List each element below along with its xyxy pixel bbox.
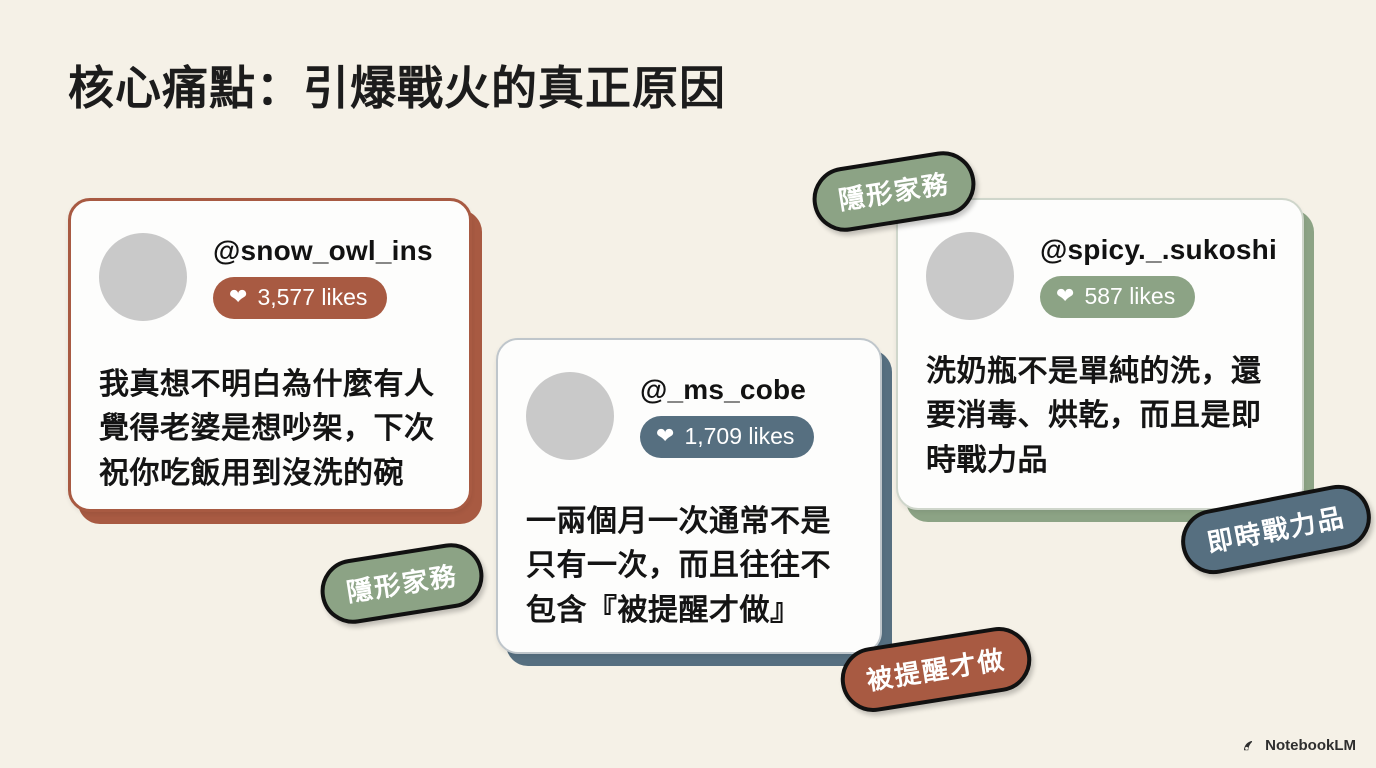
card-front-layer: @_ms_cobe ❤ 1,709 likes 一兩個月一次通常不是只有一次，而…: [496, 338, 882, 654]
likes-badge: ❤ 1,709 likes: [640, 416, 814, 458]
heart-icon: ❤: [1056, 285, 1074, 307]
footer-brand-label: NotebookLM: [1265, 737, 1356, 754]
account-handle: @snow_owl_ins: [213, 235, 433, 267]
card-header-text: @spicy._.sukoshi ❤ 587 likes: [1040, 234, 1277, 318]
slide-canvas: 核心痛點：引爆戰火的真正原因 @snow_owl_ins ❤ 3,577 lik…: [0, 0, 1376, 768]
category-tag[interactable]: 隱形家務: [316, 539, 488, 629]
card-front-layer: @spicy._.sukoshi ❤ 587 likes 洗奶瓶不是單純的洗，還…: [896, 198, 1304, 510]
quote-text: 洗奶瓶不是單純的洗，還要消毒、烘乾，而且是即時戰力品: [926, 350, 1278, 483]
card-header-text: @snow_owl_ins ❤ 3,577 likes: [213, 235, 433, 319]
quote-card[interactable]: @_ms_cobe ❤ 1,709 likes 一兩個月一次通常不是只有一次，而…: [496, 338, 882, 654]
quote-text: 一兩個月一次通常不是只有一次，而且往往不包含『被提醒才做』: [526, 500, 856, 633]
heart-icon: ❤: [656, 425, 674, 447]
quote-card[interactable]: @spicy._.sukoshi ❤ 587 likes 洗奶瓶不是單純的洗，還…: [896, 198, 1304, 510]
account-handle: @_ms_cobe: [640, 374, 806, 406]
notebooklm-logo-icon: [1242, 738, 1258, 754]
avatar: [926, 232, 1014, 320]
avatar: [526, 372, 614, 460]
footer-brand: NotebookLM: [1242, 737, 1356, 754]
page-title: 核心痛點：引爆戰火的真正原因: [68, 52, 726, 118]
avatar: [99, 233, 187, 321]
quote-card[interactable]: @snow_owl_ins ❤ 3,577 likes 我真想不明白為什麼有人覺…: [68, 198, 472, 512]
card-front-layer: @snow_owl_ins ❤ 3,577 likes 我真想不明白為什麼有人覺…: [68, 198, 472, 512]
quote-text: 我真想不明白為什麼有人覺得老婆是想吵架，下次祝你吃飯用到沒洗的碗: [99, 363, 445, 496]
likes-badge: ❤ 587 likes: [1040, 276, 1195, 318]
account-handle: @spicy._.sukoshi: [1040, 234, 1277, 266]
card-header: @spicy._.sukoshi ❤ 587 likes: [898, 200, 1302, 320]
card-header: @snow_owl_ins ❤ 3,577 likes: [71, 201, 469, 321]
likes-label: 1,709 likes: [684, 423, 794, 450]
likes-label: 3,577 likes: [257, 284, 367, 311]
likes-label: 587 likes: [1084, 283, 1175, 310]
card-header-text: @_ms_cobe ❤ 1,709 likes: [640, 374, 814, 458]
card-header: @_ms_cobe ❤ 1,709 likes: [498, 340, 880, 460]
heart-icon: ❤: [229, 286, 247, 308]
likes-badge: ❤ 3,577 likes: [213, 277, 387, 319]
